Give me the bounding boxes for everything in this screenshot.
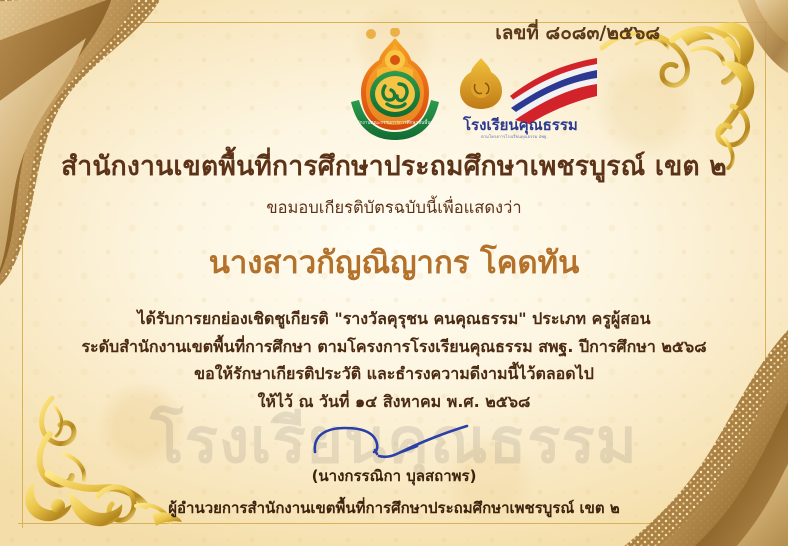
logo-row: สำนักงานคณะกรรมการการศึกษาขั้นพื้นฐาน โร… [0,22,788,142]
signature-mark [0,418,788,464]
award-body-line-3: ขอให้รักษาเกียรติประวัติ และธำรงความดีงา… [0,360,788,388]
award-issue-date: ให้ไว้ ณ วันที่ ๑๔ สิงหาคม พ.ศ. ๒๕๖๘ [0,388,788,416]
svg-text:โรงเรียนคุณธรรม: โรงเรียนคุณธรรม [462,115,578,135]
signer-name: (นางกรรณิกา บุลสถาพร) [0,464,788,488]
recipient-name: นางสาวกัญณิญากร โคดทัน [0,237,788,287]
obec-emblem-icon: สำนักงานคณะกรรมการการศึกษาขั้นพื้นฐาน [343,28,448,140]
award-body: ได้รับการยกย่องเชิดชูเกียรติ "รางวัลคุรุ… [0,305,788,415]
signer-role: ผู้อำนวยการสำนักงานเขตพื้นที่การศึกษาประ… [0,496,788,520]
certificate-content: สำนักงานเขตพื้นที่การศึกษาประถมศึกษาเพชร… [0,150,788,415]
organization-title: สำนักงานเขตพื้นที่การศึกษาประถมศึกษาเพชร… [0,150,788,183]
handwritten-signature-icon [279,418,509,464]
certificate-page: โรงเรียนคุณธรรม [0,0,788,546]
svg-text:สำนักงานคณะกรรมการการศึกษาขั้น: สำนักงานคณะกรรมการการศึกษาขั้นพื้นฐาน [351,119,439,126]
award-body-line-2: ระดับสำนักงานเขตพื้นที่การศึกษา ตามโครงก… [0,333,788,361]
signature-block: (นางกรรณิกา บุลสถาพร) ผู้อำนวยการสำนักงา… [0,418,788,520]
frame-line-bottom [18,523,770,524]
award-subtitle: ขอมอบเกียรติบัตรฉบับนี้เพื่อแสดงว่า [0,195,788,221]
svg-text:ตามโครงการโรงเรียนคุณธรรม สพฐ.: ตามโครงการโรงเรียนคุณธรรม สพฐ. [481,134,548,140]
moral-school-logo-icon: โรงเรียนคุณธรรม ตามโครงการโรงเรียนคุณธรร… [455,50,600,140]
award-body-line-1: ได้รับการยกย่องเชิดชูเกียรติ "รางวัลคุรุ… [0,305,788,333]
